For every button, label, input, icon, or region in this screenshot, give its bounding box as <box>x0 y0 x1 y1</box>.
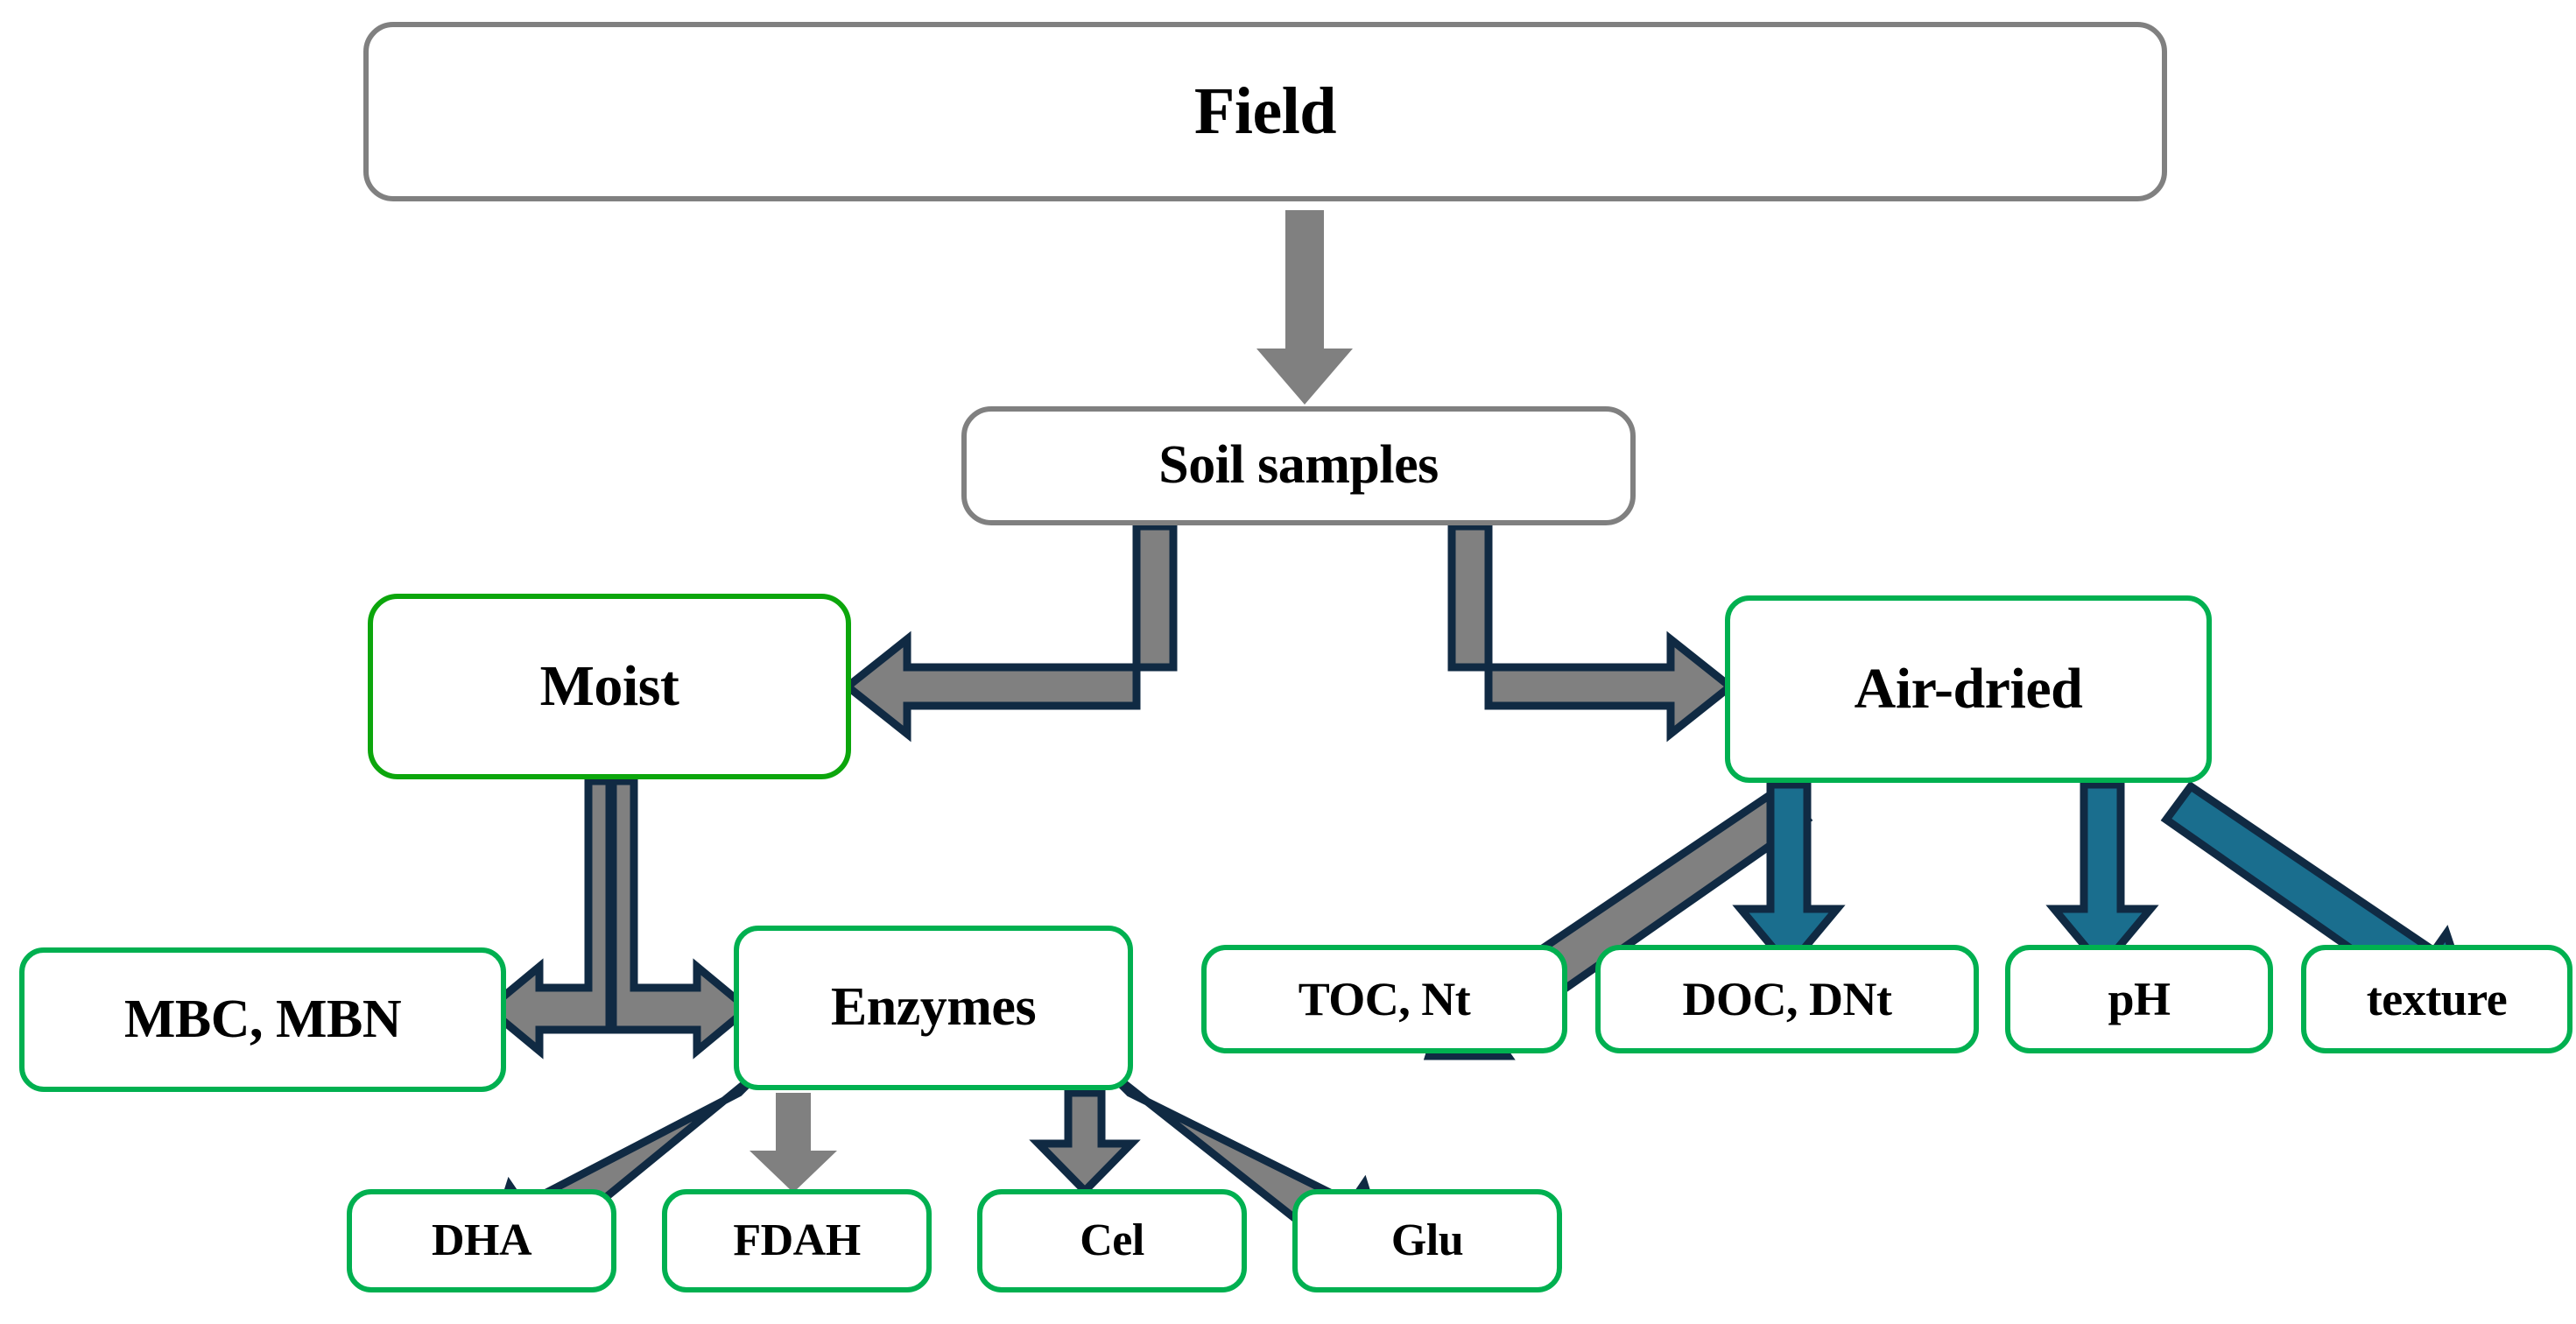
node-dha[interactable]: DHA <box>347 1189 616 1292</box>
arrow-soil-to-airdried <box>1452 526 1730 734</box>
arrow-moist-to-enzymes <box>613 781 748 1051</box>
node-fdah[interactable]: FDAH <box>662 1189 932 1292</box>
arrow-moist-to-mbc <box>489 781 609 1051</box>
arrow-enzymes-to-cel <box>1038 1093 1131 1191</box>
arrow-field-to-soil <box>1256 210 1353 405</box>
node-field[interactable]: Field <box>363 22 2167 201</box>
flowchart-canvas: Field Soil samples Moist Air-dried MBC, … <box>0 0 2576 1324</box>
arrow-soil-to-moist <box>848 526 1173 734</box>
arrow-enzymes-to-fdah <box>750 1093 837 1193</box>
node-cel[interactable]: Cel <box>977 1189 1247 1292</box>
node-toc-nt[interactable]: TOC, Nt <box>1201 945 1567 1053</box>
node-mbc-mbn[interactable]: MBC, MBN <box>19 947 506 1092</box>
node-texture[interactable]: texture <box>2301 945 2572 1053</box>
node-air-dried[interactable]: Air-dried <box>1725 595 2212 783</box>
node-glu[interactable]: Glu <box>1292 1189 1562 1292</box>
node-enzymes[interactable]: Enzymes <box>734 926 1133 1090</box>
node-ph[interactable]: pH <box>2005 945 2273 1053</box>
arrow-airdried-to-ph <box>2054 785 2150 967</box>
node-moist[interactable]: Moist <box>368 594 851 779</box>
node-doc-dnt[interactable]: DOC, DNt <box>1595 945 1979 1053</box>
node-soil-samples[interactable]: Soil samples <box>961 406 1636 525</box>
